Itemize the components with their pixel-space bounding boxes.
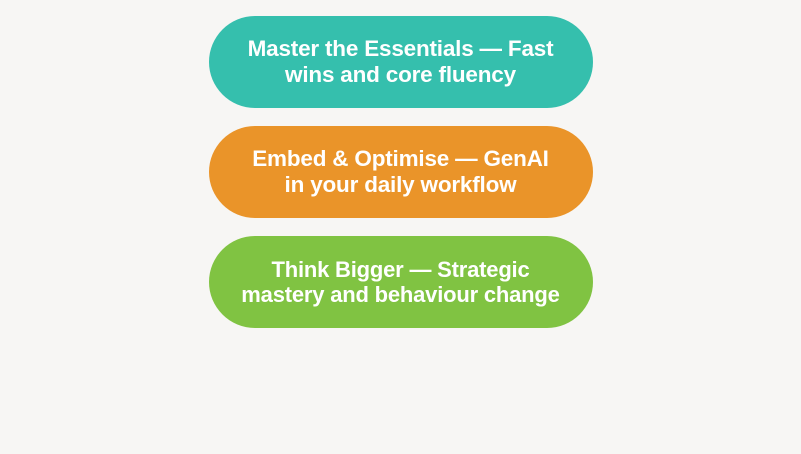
pill-think-bigger[interactable]: Think Bigger — Strategic mastery and beh… (209, 236, 593, 328)
pill-label-embed-and-optimise: Embed & Optimise — GenAI in your daily w… (252, 146, 549, 197)
pill-stack: Master the Essentials — Fast wins and co… (0, 16, 801, 328)
pill-embed-and-optimise[interactable]: Embed & Optimise — GenAI in your daily w… (209, 126, 593, 218)
pill-master-the-essentials[interactable]: Master the Essentials — Fast wins and co… (209, 16, 593, 108)
pill-label-think-bigger: Think Bigger — Strategic mastery and beh… (241, 257, 559, 307)
pill-label-master-the-essentials: Master the Essentials — Fast wins and co… (248, 36, 554, 87)
